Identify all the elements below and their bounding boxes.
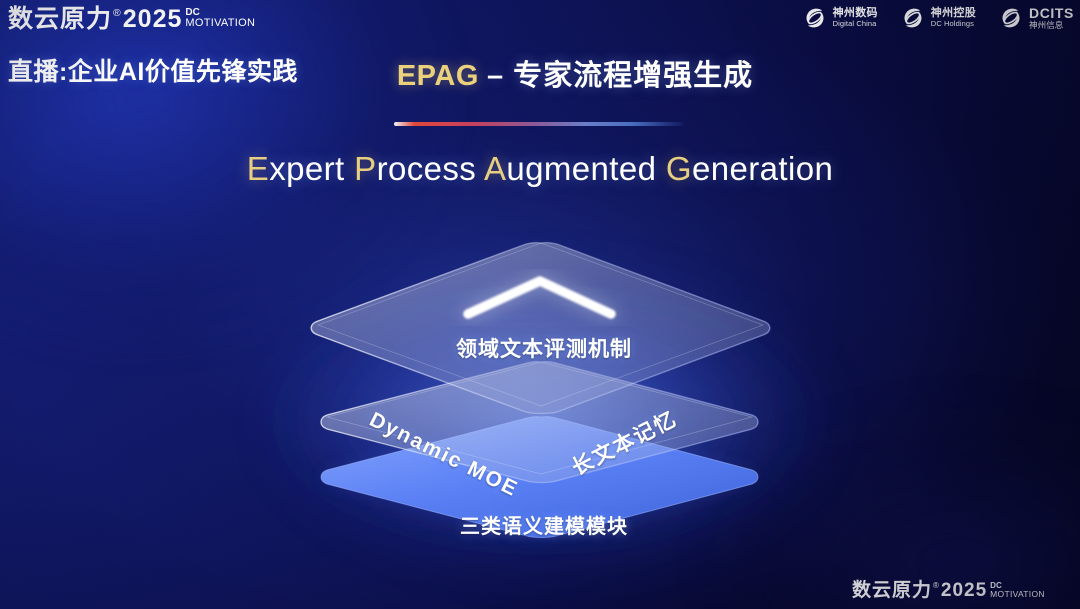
brand-name-cn: 数云原力 [852,581,932,600]
english-title: Expert Process Augmented Generation [0,150,1080,188]
partner-logo-dc-holdings: 神州控股 DC Holdings [900,5,976,31]
layer-edge-label-moe: Dynamic MOE [365,408,522,502]
partner-logo-row: 神州数码 Digital China 神州控股 DC Holdings [802,5,1074,31]
partner-logo-digital-china: 神州数码 Digital China [802,5,878,31]
brand-dc-motivation: DC MOTIVATION [185,8,255,29]
brand-dc-motivation: DC MOTIVATION [990,582,1045,598]
brand-logo-header: 数云原力 ® 2025 DC MOTIVATION [8,7,255,32]
partner-logo-text: 神州数码 Digital China [833,8,878,27]
layer-top-plate [311,243,770,414]
page-title: EPAG – 专家流程增强生成 [0,52,1080,94]
layer-bottom-label: 三类语义建模模块 [0,510,1080,539]
brand-motivation-label: MOTIVATION [990,590,1045,598]
english-word-3: Augmented [484,150,656,187]
partner-logo-text: 神州控股 DC Holdings [931,8,976,27]
layer-top [311,243,770,414]
partner-logo-dcits: DCITS 神州信息 [998,5,1074,31]
english-word-1: Expert [247,150,345,187]
partner-name-en: Digital China [833,20,878,28]
swirl-icon [998,5,1024,31]
partner-name-en: DC Holdings [931,20,976,28]
brand-logo-footer: 数云原力 ® 2025 DC MOTIVATION [852,581,1045,600]
english-word-4: Generation [666,150,833,187]
title-divider [394,122,684,126]
partner-name-cn: DCITS [1029,6,1074,21]
brand-name-cn: 数云原力 [8,7,112,32]
brand-registered-mark: ® [933,582,939,590]
brand-motivation-label: MOTIVATION [185,18,255,29]
brand-registered-mark: ® [113,8,121,19]
ambient-glow-center [250,250,850,590]
layer-top-highlight [318,243,763,406]
ambient-glow-bottom-right [700,400,1080,609]
partner-name-en: 神州信息 [1029,21,1074,30]
slide-canvas: 数云原力 ® 2025 DC MOTIVATION 直播:企业AI价值先锋实践 … [0,0,1080,609]
page-title-acronym: EPAG [397,60,479,92]
brand-year: 2025 [941,581,987,600]
brand-year: 2025 [123,7,183,32]
chevron-up-icon [468,281,611,314]
english-word-2: Process [354,150,476,187]
layer-edge-label-memory: 长文本记忆 [566,403,682,482]
page-title-subtitle: – 专家流程增强生成 [487,60,753,92]
layer-top-label: 领域文本评测机制 [0,333,1080,363]
partner-logo-text: DCITS 神州信息 [1029,6,1074,30]
swirl-icon [802,5,828,31]
swirl-icon [900,5,926,31]
